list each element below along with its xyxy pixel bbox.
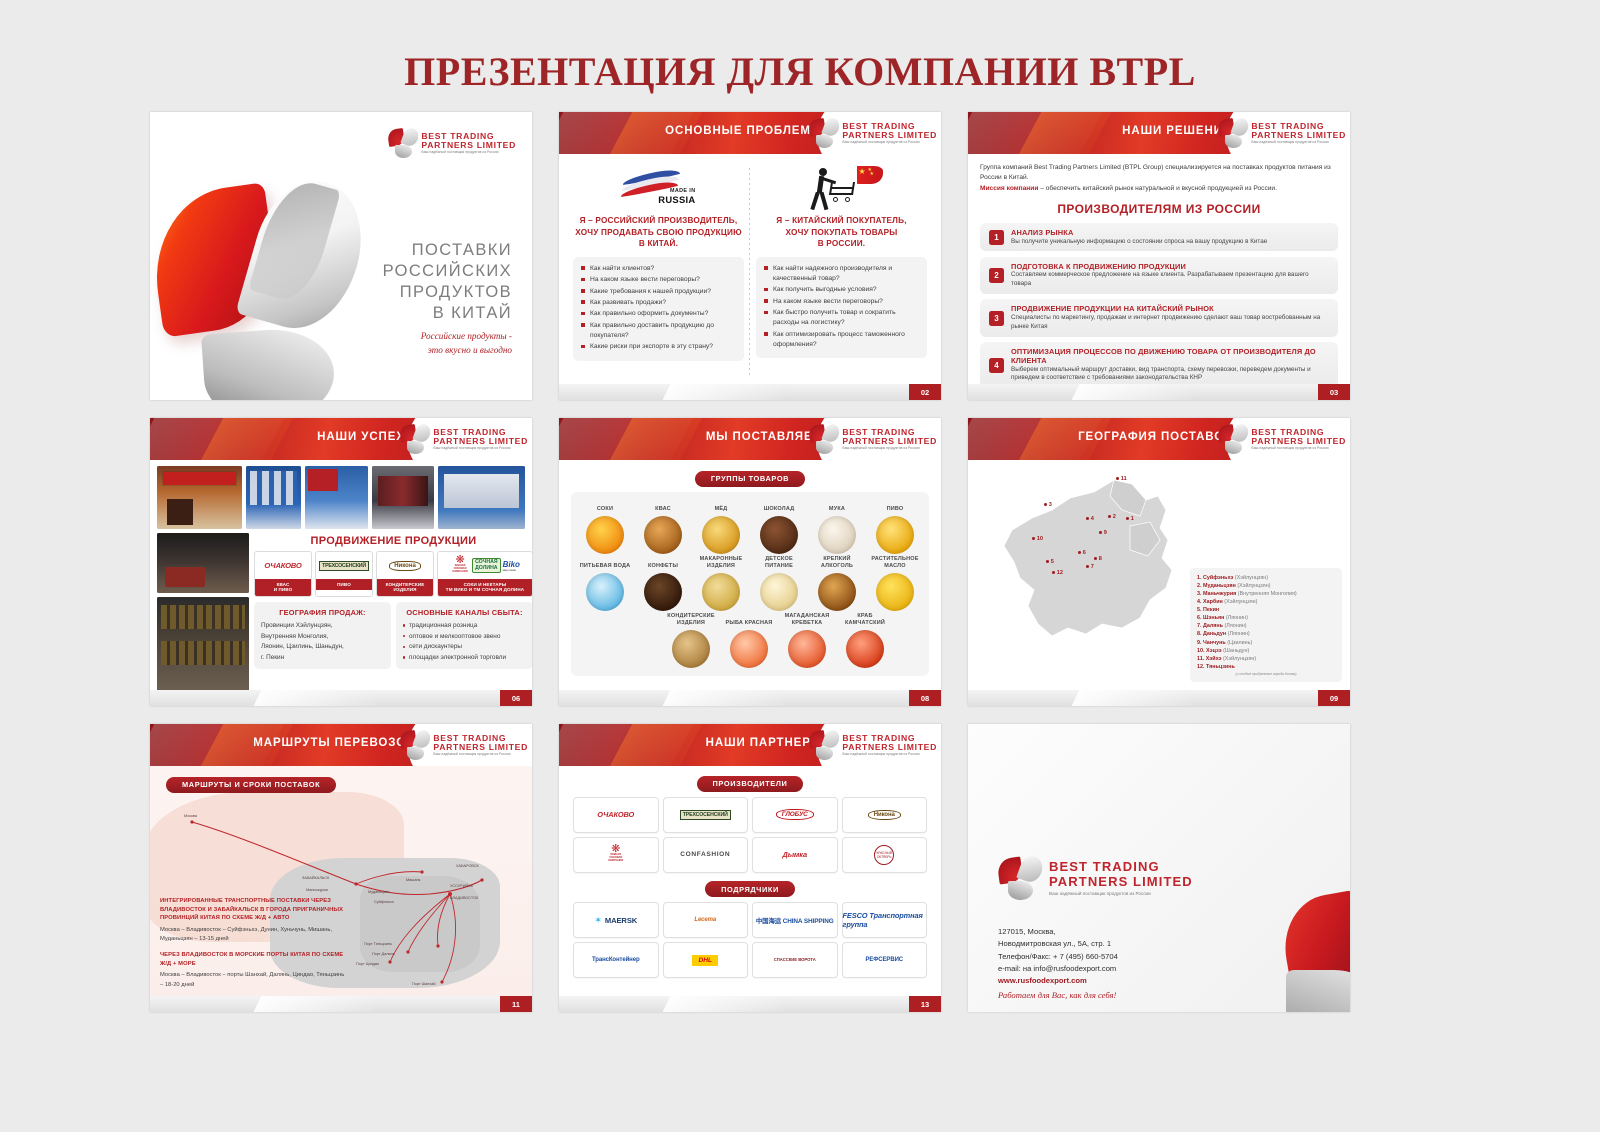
slide-header-band: МАРШРУТЫ ПЕРЕВОЗОК BEST TRADING PARTNERS… — [150, 724, 532, 766]
slide-routes[interactable]: МАРШРУТЫ ПЕРЕВОЗОК BEST TRADING PARTNERS… — [150, 724, 532, 1012]
slides-row-1: BEST TRADING PARTNERS LIMITED Ваш надёжн… — [150, 112, 1450, 400]
slide-contacts[interactable]: BEST TRADING PARTNERS LIMITED Ваш надёжн… — [968, 724, 1350, 1012]
map-marker-6[interactable]: 6 — [1078, 550, 1086, 556]
product-label: ПИВО — [867, 499, 923, 513]
brand-caption: ПИВО — [316, 579, 372, 590]
product-image-candy — [644, 573, 682, 611]
partner-logo-label: 中国海运 CHINA SHIPPING — [756, 916, 834, 925]
logo-tagline: Ваш надёжный поставщик продуктов из Росс… — [842, 753, 937, 756]
partner-logo-label: ТрансКонтейнер — [592, 957, 640, 963]
partner-card-refservis[interactable]: РЕФСЕРВИС — [842, 942, 928, 978]
slide-header-band: НАШИ ПАРТНЕРЫ BEST TRADING PARTNERS LIMI… — [559, 724, 941, 766]
brand-logo: BEST TRADING PARTNERS LIMITED Ваш надёжн… — [400, 730, 528, 760]
partner-logo-label: DHL — [692, 955, 718, 966]
photo-showroom — [157, 533, 249, 593]
list-item: 1. Суйфэньхэ (Хэйлунцзян) — [1197, 574, 1335, 582]
slide-footer-band: 06 — [150, 690, 532, 706]
partner-card-trehsosenskiy[interactable]: ТРЕХСОСЕНСКИЙ — [663, 797, 749, 833]
product-image-beer — [876, 516, 914, 554]
product-image-chocolate — [760, 516, 798, 554]
product-cell[interactable]: МАКАРОННЫЕ ИЗДЕЛИЯ — [693, 556, 749, 611]
page-title: ПРЕЗЕНТАЦИЯ ДЛЯ КОМПАНИИ BTPL — [0, 0, 1600, 111]
list-item: сети дискаунтеры — [403, 642, 526, 653]
cities-list: 1. Суйфэньхэ (Хэйлунцзян) 2. Муданьцзян … — [1190, 568, 1342, 682]
map-label-port-qingdao: Порт Циндао — [356, 962, 379, 966]
promotion-panel: ПРОДВИЖЕНИЕ ПРОДУКЦИИ ОЧАКОВО КВАС И ПИВ… — [254, 533, 532, 695]
slide-number: 11 — [500, 996, 532, 1012]
map-label-port-dalian: Порт Далянь — [372, 952, 395, 956]
china-flag-icon: ★★ ★ — [857, 166, 883, 184]
product-cell[interactable]: МАГАДАНСКАЯ КРЕВЕТКА — [779, 613, 835, 668]
product-cell[interactable]: ШОКОЛАД — [751, 499, 807, 554]
list-item: площадки электронной торговли — [403, 653, 526, 664]
slide-header-band: НАШИ РЕШЕНИЯ BEST TRADING PARTNERS LIMIT… — [968, 112, 1350, 154]
product-label: КРАБ КАМЧАТСКИЙ — [837, 613, 893, 627]
logo-line2: PARTNERS LIMITED — [842, 131, 937, 140]
partner-logo-label: РЕФСЕРВИС — [865, 957, 903, 963]
product-cell[interactable]: МУКА — [809, 499, 865, 554]
products-pill: ГРУППЫ ТОВАРОВ — [695, 471, 805, 487]
logo-petals-icon — [400, 730, 430, 760]
producers-grid: ОЧАКОВО ТРЕХСОСЕНСКИЙ ГЛОБУС Никона ❋ЮЖН… — [573, 797, 927, 873]
producers-pill: ПРОИЗВОДИТЕЛИ — [697, 776, 804, 792]
logo-petals-icon — [400, 424, 430, 454]
product-cell[interactable]: ДЕТСКОЕ ПИТАНИЕ — [751, 556, 807, 611]
solution-desc: Выберем оптимальный маршрут доставки, ви… — [1011, 366, 1329, 384]
product-cell[interactable]: КРЕПКИЙ АЛКОГОЛЬ — [809, 556, 865, 611]
address-line: Новодмитровская ул., 5А, стр. 1 — [998, 938, 1118, 950]
brand-logo: BEST TRADING PARTNERS LIMITED Ваш надёжн… — [1218, 118, 1346, 148]
map-marker-7[interactable]: 7 — [1086, 564, 1094, 570]
list-item: Как найти клиентов? — [581, 264, 736, 274]
route-1-heading: ИНТЕГРИРОВАННЫЕ ТРАНСПОРТНЫЕ ПОСТАВКИ ЧЕ… — [160, 897, 348, 923]
logo-petals-icon — [1218, 424, 1248, 454]
product-label: КРЕПКИЙ АЛКОГОЛЬ — [809, 556, 865, 570]
solution-title: ПРОДВИЖЕНИЕ ПРОДУКЦИИ НА КИТАЙСКИЙ РЫНОК — [1011, 304, 1329, 313]
product-label: СОКИ — [577, 499, 633, 513]
photo-store-front — [157, 466, 242, 529]
solution-number: 4 — [989, 358, 1004, 373]
product-image-juice — [586, 516, 624, 554]
slide-title-text: НАШИ ПАРТНЕРЫ — [706, 737, 823, 749]
product-cell[interactable]: ПИВО — [867, 499, 923, 554]
product-image-oil — [876, 573, 914, 611]
brand-logo-large: BEST TRADING PARTNERS LIMITED Ваш надёжн… — [998, 856, 1193, 900]
slide-number: 13 — [909, 996, 941, 1012]
partner-logo-label: ОЧАКОВО — [597, 810, 634, 819]
successes-body: ПРОДВИЖЕНИЕ ПРОДУКЦИИ ОЧАКОВО КВАС И ПИВ… — [150, 460, 532, 695]
partner-logo-label: Дымка — [782, 850, 807, 859]
slide-successes[interactable]: НАШИ УСПЕХИ BEST TRADING PARTNERS LIMITE… — [150, 418, 532, 706]
partner-card-yuzhnaya-sokovaya[interactable]: ❋ЮЖНАЯ СОКОВАЯ КОМПАНИЯ — [573, 837, 659, 873]
logo-yuzhnaya-sokovaya-icon: ❋ЮЖНАЯ СОКОВАЯКОМПАНИЯ — [450, 557, 470, 575]
logo-tagline: Ваш надёжный поставщик продуктов из Росс… — [421, 151, 516, 154]
partner-card-nikona[interactable]: Никона — [842, 797, 928, 833]
logo-viko: Bikoмир соков — [503, 560, 520, 572]
address-line: 127015, Москва, — [998, 926, 1118, 938]
product-cell[interactable]: КВАС — [635, 499, 691, 554]
product-cell[interactable]: КОНФЕТЫ — [635, 556, 691, 611]
slide-products[interactable]: МЫ ПОСТАВЛЯЕМ BEST TRADING PARTNERS LIMI… — [559, 418, 941, 706]
partner-logo-label: FESCO Транспортная группа — [843, 911, 927, 929]
slides-grid: BEST TRADING PARTNERS LIMITED Ваш надёжн… — [150, 112, 1450, 1030]
brand-logo: BEST TRADING PARTNERS LIMITED Ваш надёжн… — [809, 730, 937, 760]
geography-title: ГЕОГРАФИЯ ПРОДАЖ: — [261, 608, 384, 617]
contractors-grid: ✶ MAERSK Lecema 中国海运 CHINA SHIPPING FESC… — [573, 902, 927, 978]
map-marker-5[interactable]: 5 — [1046, 559, 1054, 565]
list-item: оптовое и мелкооптовое звено — [403, 632, 526, 643]
map-label-port-shanghai: Порт Шанхай — [412, 982, 435, 986]
solution-number: 2 — [989, 268, 1004, 283]
map-marker-12[interactable]: 12 — [1052, 570, 1063, 576]
slide-header-band: МЫ ПОСТАВЛЯЕМ BEST TRADING PARTNERS LIMI… — [559, 418, 941, 460]
brand-card-trehsosenskiy[interactable]: ТРЕХСОСЕНСКИЙ ПИВО — [315, 551, 373, 597]
list-item: Какие требования к нашей продукции? — [581, 287, 736, 297]
slide-title-text: ОСНОВНЫЕ ПРОБЛЕМЫ — [665, 125, 823, 137]
brand-logo-label: Никона — [389, 561, 421, 571]
slide-geography[interactable]: ГЕОГРАФИЯ ПОСТАВОК BEST TRADING PARTNERS… — [968, 418, 1350, 706]
product-label: ДЕТСКОЕ ПИТАНИЕ — [751, 556, 807, 570]
solution-number: 3 — [989, 311, 1004, 326]
slide-number: 03 — [1318, 384, 1350, 400]
product-label: РЫБА КРАСНАЯ — [721, 613, 777, 627]
product-label: МУКА — [809, 499, 865, 513]
shopper-with-cart-china-flag-icon: ★★ ★ — [803, 166, 881, 212]
slide-title[interactable]: BEST TRADING PARTNERS LIMITED Ваш надёжн… — [150, 112, 532, 400]
logo-tagline: Ваш надёжный поставщик продуктов из Росс… — [1049, 891, 1193, 896]
partner-logo-label: CONFASHION — [680, 851, 730, 858]
photo-expo-booth — [246, 466, 301, 529]
producer-questions-box: Как найти клиентов? На каком языке вести… — [573, 257, 744, 361]
geography-line: Провинции Хэйлунцзян, — [261, 621, 384, 632]
partner-card-lecema[interactable]: Lecema — [663, 902, 749, 938]
problems-body: MADE IN RUSSIA Я – РОССИЙСКИЙ ПРОИЗВОДИТ… — [559, 154, 941, 384]
partner-logo-label: ТРЕХСОСЕНСКИЙ — [680, 810, 731, 820]
product-label: КВАС — [635, 499, 691, 513]
slogan: Работаем для Вас, как для себя! — [998, 989, 1118, 1003]
slide-footer-band: 09 — [968, 690, 1350, 706]
logo-line2: PARTNERS LIMITED — [433, 743, 528, 752]
product-image-kvas — [644, 516, 682, 554]
successes-info-boxes: ГЕОГРАФИЯ ПРОДАЖ: Провинции Хэйлунцзян, … — [254, 602, 532, 670]
list-item: Как быстро получить товар и сократить ра… — [764, 308, 919, 328]
brand-logo: BEST TRADING PARTNERS LIMITED Ваш надёжн… — [1218, 424, 1346, 454]
solution-item[interactable]: 4 ОПТИМИЗАЦИЯ ПРОЦЕССОВ ПО ДВИЖЕНИЮ ТОВА… — [980, 342, 1338, 388]
list-item: 12. Тяньцзинь — [1197, 663, 1335, 671]
product-cell[interactable]: МЁД — [693, 499, 749, 554]
list-item: 5. Пекин — [1197, 606, 1335, 614]
headline-line-1: ПОСТАВКИ — [383, 240, 512, 261]
brand-card-juices[interactable]: ❋ЮЖНАЯ СОКОВАЯКОМПАНИЯ СОЧНАЯДОЛИНА Biko… — [437, 551, 532, 597]
buyer-questions-box: Как найти надежного производителя и каче… — [756, 257, 927, 358]
brand-caption: КВАС И ПИВО — [255, 579, 311, 596]
slide-title-text: МАРШРУТЫ ПЕРЕВОЗОК — [253, 737, 414, 749]
solution-item[interactable]: 3 ПРОДВИЖЕНИЕ ПРОДУКЦИИ НА КИТАЙСКИЙ РЫН… — [980, 299, 1338, 336]
slide-header-band: ГЕОГРАФИЯ ПОСТАВОК BEST TRADING PARTNERS… — [968, 418, 1350, 460]
route-1-detail: Москва – Владивосток – Суйфэньхэ, Дунин,… — [160, 926, 348, 945]
logo-petals-icon — [1218, 118, 1248, 148]
logo-line2: PARTNERS LIMITED — [1251, 131, 1346, 140]
solution-title: АНАЛИЗ РЫНКА — [1011, 228, 1267, 237]
solutions-intro: Группа компаний Best Trading Partners Li… — [980, 163, 1338, 183]
map-marker-1[interactable]: 1 — [1126, 516, 1134, 522]
partner-logo-label: MAERSK — [605, 916, 637, 925]
partner-card-globus[interactable]: ГЛОБУС — [752, 797, 838, 833]
product-cell[interactable]: СОКИ — [577, 499, 633, 554]
product-image-water — [586, 573, 624, 611]
map-label-moscow: Москва — [184, 814, 197, 818]
list-item: Как оптимизировать процесс таможенного о… — [764, 330, 919, 350]
solutions-section-heading: ПРОИЗВОДИТЕЛЯМ ИЗ РОССИИ — [980, 202, 1338, 216]
product-label: МАКАРОННЫЕ ИЗДЕЛИЯ — [693, 556, 749, 570]
product-label: МЁД — [693, 499, 749, 513]
geography-line: Ляонин, Цзилинь, Шаньдун, — [261, 642, 384, 653]
mission-text: – обеспечить китайский рынок натуральной… — [1038, 185, 1277, 192]
logo-sochnaya-dolina: СОЧНАЯДОЛИНА — [472, 558, 501, 573]
title-headline: ПОСТАВКИ РОССИЙСКИХ ПРОДУКТОВ В КИТАЙ — [383, 240, 512, 324]
headline-line-4: В КИТАЙ — [383, 303, 512, 324]
brand-caption: КОНДИТЕРСКИЕ ИЗДЕЛИЯ — [377, 579, 433, 596]
list-item: 10. Хэцзэ (Шаньдун) — [1197, 647, 1335, 655]
solution-item[interactable]: 1 АНАЛИЗ РЫНКА Вы получите уникальную ин… — [980, 223, 1338, 251]
product-image-crab — [846, 630, 884, 668]
products-row: КОНДИТЕРСКИЕ ИЗДЕЛИЯ РЫБА КРАСНАЯ МАГАДА… — [575, 613, 925, 668]
partner-card-dymka[interactable]: Дымка — [752, 837, 838, 873]
list-item: Как правильно оформить документы? — [581, 309, 736, 319]
product-cell[interactable]: ПИТЬЕВАЯ ВОДА — [577, 556, 633, 611]
photo-shelves — [157, 597, 249, 695]
map-label-suifenhe: Суйфэньхэ — [374, 900, 394, 904]
headline-line-3: ПРОДУКТОВ — [383, 282, 512, 303]
mission-label: Миссия компании — [980, 185, 1038, 192]
channels-box: ОСНОВНЫЕ КАНАЛЫ СБЫТА: традиционная розн… — [396, 602, 532, 670]
brand-card-ochakovo[interactable]: ОЧАКОВО КВАС И ПИВО — [254, 551, 312, 597]
list-item: 11. Хэйхэ (Хэйлунцзян) — [1197, 655, 1335, 663]
slide-solutions[interactable]: НАШИ РЕШЕНИЯ BEST TRADING PARTNERS LIMIT… — [968, 112, 1350, 400]
partner-logo-label: КРАСНЫЙ ОКТЯБРЬ — [874, 845, 894, 865]
map-marker-2[interactable]: 2 — [1108, 514, 1116, 520]
photo-column — [157, 533, 249, 695]
slide-footer-band: 13 — [559, 996, 941, 1012]
routes-pill: МАРШРУТЫ И СРОКИ ПОСТАВОК — [166, 777, 336, 793]
product-label: КОНФЕТЫ — [635, 556, 691, 570]
product-label: РАСТИТЕЛЬНОЕ МАСЛО — [867, 556, 923, 570]
slides-row-2: НАШИ УСПЕХИ BEST TRADING PARTNERS LIMITE… — [150, 418, 1450, 706]
map-marker-3[interactable]: 3 — [1044, 502, 1052, 508]
slides-row-3: МАРШРУТЫ ПЕРЕВОЗОК BEST TRADING PARTNERS… — [150, 724, 1450, 1012]
list-item: Как получить выгодные условия? — [764, 285, 919, 295]
solution-desc: Вы получите уникальную информацию о сост… — [1011, 238, 1267, 247]
map-marker-10[interactable]: 10 — [1032, 536, 1043, 542]
producer-heading: Я – РОССИЙСКИЙ ПРОИЗВОДИТЕЛЬ, ХОЧУ ПРОДА… — [573, 215, 744, 250]
map-label-ussuriysk: УССУРИЙСК — [450, 884, 473, 888]
successes-middle: ПРОДВИЖЕНИЕ ПРОДУКЦИИ ОЧАКОВО КВАС И ПИВ… — [157, 533, 525, 695]
photo-strip — [157, 466, 525, 529]
map-marker-4[interactable]: 4 — [1086, 516, 1094, 522]
list-item: 7. Далянь (Ляонин) — [1197, 622, 1335, 630]
subtitle-line-2: это вкусно и выгодно — [421, 344, 512, 358]
product-image-spirits — [818, 573, 856, 611]
geography-line: г. Пекин — [261, 653, 384, 664]
brand-caption: СОКИ И НЕКТАРЫ ТМ ВИКО И ТМ СОЧНАЯ ДОЛИН… — [438, 579, 532, 596]
map-label-port-tianjin: Порт Тяньцзинь — [364, 942, 392, 946]
list-item: На каком языке вести переговоры? — [764, 297, 919, 307]
photo-billboard — [438, 466, 525, 529]
problems-column-buyer: ★★ ★ Я – КИТАЙСКИЙ ПОКУПАТЕЛЬ, ХОЧУ ПОКУ… — [750, 164, 933, 384]
geography-box: ГЕОГРАФИЯ ПРОДАЖ: Провинции Хэйлунцзян, … — [254, 602, 391, 670]
list-item: Как правильно доставить продукцию до пок… — [581, 321, 736, 341]
slide-header-band: ОСНОВНЫЕ ПРОБЛЕМЫ BEST TRADING PARTNERS … — [559, 112, 941, 154]
product-label: ПИТЬЕВАЯ ВОДА — [577, 556, 633, 570]
logo-line2: PARTNERS LIMITED — [1251, 437, 1346, 446]
partner-card-confashion[interactable]: CONFASHION — [663, 837, 749, 873]
list-item: 4. Харбин (Хэйлунцзян) — [1197, 598, 1335, 606]
headline-line-2: РОССИЙСКИХ — [383, 261, 512, 282]
logo-petals-icon — [809, 424, 839, 454]
channels-title: ОСНОВНЫЕ КАНАЛЫ СБЫТА: — [403, 608, 526, 617]
logo-petals-icon — [809, 118, 839, 148]
slide-footer-band: 08 — [559, 690, 941, 706]
products-body: ГРУППЫ ТОВАРОВ СОКИ КВАС МЁД — [559, 460, 941, 676]
partner-logo-label: ЮЖНАЯ СОКОВАЯ КОМПАНИЯ — [606, 854, 626, 863]
made-in-russia-flag-icon: MADE IN RUSSIA — [620, 168, 698, 212]
photo-branded-truck — [372, 466, 435, 529]
logo-line2: PARTNERS LIMITED — [421, 141, 516, 150]
partner-card-krasny-oktyabr[interactable]: КРАСНЫЙ ОКТЯБРЬ — [842, 837, 928, 873]
subtitle-line-1: Российские продукты - — [421, 330, 512, 344]
logo-line2: PARTNERS LIMITED — [842, 437, 937, 446]
product-image-baby-food — [760, 573, 798, 611]
logo-line2: PARTNERS LIMITED — [1049, 875, 1193, 890]
product-label: КОНДИТЕРСКИЕ ИЗДЕЛИЯ — [663, 613, 719, 627]
contact-info: 127015, Москва, Новодмитровская ул., 5А,… — [998, 926, 1118, 1003]
solution-item[interactable]: 2 ПОДГОТОВКА К ПРОДВИЖЕНИЮ ПРОДУКЦИИ Сос… — [980, 257, 1338, 294]
map-label-mishan: Мишань — [406, 878, 421, 882]
logo-petals-icon — [809, 730, 839, 760]
partner-card-transcontainer[interactable]: ТрансКонтейнер — [573, 942, 659, 978]
list-item: 8. Даньдун (Ляонин) — [1197, 630, 1335, 638]
logo-tagline: Ваш надёжный поставщик продуктов из Росс… — [1251, 447, 1346, 450]
solution-number: 1 — [989, 230, 1004, 245]
brand-logo: BEST TRADING PARTNERS LIMITED Ваш надёжн… — [400, 424, 528, 454]
product-cell[interactable]: КРАБ КАМЧАТСКИЙ — [837, 613, 893, 668]
map-label-khabarovsk: ХАБАРОВСК — [456, 864, 479, 868]
promotion-heading: ПРОДВИЖЕНИЕ ПРОДУКЦИИ — [254, 535, 532, 547]
products-panel: СОКИ КВАС МЁД ШОКОЛАД МУКА — [571, 492, 929, 676]
partner-card-fesco[interactable]: FESCO Транспортная группа — [842, 902, 928, 938]
brand-cards: ОЧАКОВО КВАС И ПИВО ТРЕХСОСЕНСКИЙ ПИВО — [254, 551, 532, 597]
solutions-mission: Миссия компании – обеспечить китайский р… — [980, 184, 1338, 194]
brand-logo-label: ТРЕХСОСЕНСКИЙ — [319, 561, 369, 571]
solution-desc: Составляем коммерческое предложение на я… — [1011, 271, 1329, 289]
product-cell[interactable]: КОНДИТЕРСКИЕ ИЗДЕЛИЯ — [663, 613, 719, 668]
route-2-detail: Москва – Владивосток – порты Шанхай, Дал… — [160, 971, 348, 990]
brand-card-nikona[interactable]: Никона КОНДИТЕРСКИЕ ИЗДЕЛИЯ — [376, 551, 434, 597]
logo-tagline: Ваш надёжный поставщик продуктов из Росс… — [433, 753, 528, 756]
map-marker-11[interactable]: 11 — [1116, 476, 1127, 482]
buyer-heading: Я – КИТАЙСКИЙ ПОКУПАТЕЛЬ, ХОЧУ ПОКУПАТЬ … — [756, 215, 927, 250]
product-image-shrimp — [788, 630, 826, 668]
map-label-zabaikalsk: ЗАБАЙКАЛЬСК — [302, 876, 329, 880]
title-subtitle: Российские продукты - это вкусно и выгод… — [421, 330, 512, 358]
slide-title-text: МЫ ПОСТАВЛЯЕМ — [706, 431, 823, 443]
logo-petals-icon — [388, 128, 418, 158]
routes-text: ИНТЕГРИРОВАННЫЕ ТРАНСПОРТНЫЕ ПОСТАВКИ ЧЕ… — [160, 897, 348, 990]
phone-line: Телефон/Факс: + 7 (495) 660-5704 — [998, 951, 1118, 963]
partner-card-ochakovo[interactable]: ОЧАКОВО — [573, 797, 659, 833]
photo-expo-stand — [305, 466, 368, 529]
list-item: Как развивать продажи? — [581, 298, 736, 308]
logo-tagline: Ваш надёжный поставщик продуктов из Росс… — [1251, 141, 1346, 144]
logo-tagline: Ваш надёжный поставщик продуктов из Росс… — [842, 447, 937, 450]
logo-petals-icon — [998, 856, 1042, 900]
list-item: 6. Шэньян (Ляонин) — [1197, 614, 1335, 622]
map-label-vladivostok: ВЛАДИВОСТОК — [450, 896, 478, 900]
routes-body: МАРШРУТЫ И СРОКИ ПОСТАВОК Москва ЗАБАЙКА… — [150, 766, 532, 996]
list-item: 9. Чанчунь (Цзилинь) — [1197, 639, 1335, 647]
russia-label: RUSSIA — [658, 194, 695, 205]
product-image-flour — [818, 516, 856, 554]
partner-card-spasskie-vorota[interactable]: СПАССКИЕ ВОРОТА — [752, 942, 838, 978]
list-item: Какие риски при экспорте в эту страну? — [581, 342, 736, 352]
slide-header-band: НАШИ УСПЕХИ BEST TRADING PARTNERS LIMITE… — [150, 418, 532, 460]
products-row: СОКИ КВАС МЁД ШОКОЛАД МУКА — [575, 499, 925, 554]
product-cell[interactable]: РАСТИТЕЛЬНОЕ МАСЛО — [867, 556, 923, 611]
slide-number: 06 — [500, 690, 532, 706]
contact-petal-artwork — [1248, 892, 1350, 1012]
partners-body: ПРОИЗВОДИТЕЛИ ОЧАКОВО ТРЕХСОСЕНСКИЙ ГЛОБ… — [559, 766, 941, 978]
slide-problems[interactable]: ОСНОВНЫЕ ПРОБЛЕМЫ BEST TRADING PARTNERS … — [559, 112, 941, 400]
slide-footer-band: 03 — [968, 384, 1350, 400]
contractors-pill: ПОДРЯДЧИКИ — [705, 881, 795, 897]
email-line: e-mail: на info@rusfoodexport.com — [998, 963, 1118, 975]
website-link[interactable]: www.rusfoodexport.com — [998, 975, 1118, 987]
brand-logo: BEST TRADING PARTNERS LIMITED Ваш надёжн… — [809, 118, 937, 148]
list-item: 2. Муданьцзян (Хэйлунцзян) — [1197, 582, 1335, 590]
partner-card-china-shipping[interactable]: 中国海运 CHINA SHIPPING — [752, 902, 838, 938]
partner-logo-label: Lecema — [694, 917, 716, 923]
brand-logo: BEST TRADING PARTNERS LIMITED Ваш надёжн… — [809, 424, 937, 454]
partner-logo-label: Никона — [868, 810, 901, 820]
map-label-manchuria: Маньчжурия — [306, 888, 328, 892]
slide-partners[interactable]: НАШИ ПАРТНЕРЫ BEST TRADING PARTNERS LIMI… — [559, 724, 941, 1012]
partner-card-dhl[interactable]: DHL — [663, 942, 749, 978]
partner-logo-label: ГЛОБУС — [776, 809, 814, 820]
brand-logo-label: ОЧАКОВО — [264, 561, 301, 570]
logo-line1: BEST TRADING — [1049, 860, 1193, 875]
solution-title: ПОДГОТОВКА К ПРОДВИЖЕНИЮ ПРОДУКЦИИ — [1011, 262, 1329, 271]
partner-logo-label: СПАССКИЕ ВОРОТА — [774, 958, 816, 963]
product-image-honey — [702, 516, 740, 554]
slide-number: 09 — [1318, 690, 1350, 706]
slide-title-text: НАШИ РЕШЕНИЯ — [1122, 125, 1232, 137]
maersk-star-icon: ✶ — [594, 915, 602, 926]
solution-title: ОПТИМИЗАЦИЯ ПРОЦЕССОВ ПО ДВИЖЕНИЮ ТОВАРА… — [1011, 347, 1329, 365]
solutions-body: Группа компаний Best Trading Partners Li… — [968, 154, 1350, 388]
product-label: МАГАДАНСКАЯ КРЕВЕТКА — [779, 613, 835, 627]
map-marker-9[interactable]: 9 — [1099, 530, 1107, 536]
logo-yuzhnaya-sokovaya-icon: ❋ЮЖНАЯ СОКОВАЯ КОМПАНИЯ — [606, 846, 626, 864]
geography-body: 11 3 4 2 1 9 6 8 7 5 12 10 1. Суйфэньхэ … — [968, 460, 1350, 690]
product-label: ШОКОЛАД — [751, 499, 807, 513]
partner-card-maersk[interactable]: ✶ MAERSK — [573, 902, 659, 938]
product-cell[interactable]: РЫБА КРАСНАЯ — [721, 613, 777, 668]
logo-line2: PARTNERS LIMITED — [433, 437, 528, 446]
product-image-confectionery — [672, 630, 710, 668]
list-item: традиционная розница — [403, 621, 526, 632]
product-image-pasta — [702, 573, 740, 611]
map-marker-8[interactable]: 8 — [1094, 556, 1102, 562]
